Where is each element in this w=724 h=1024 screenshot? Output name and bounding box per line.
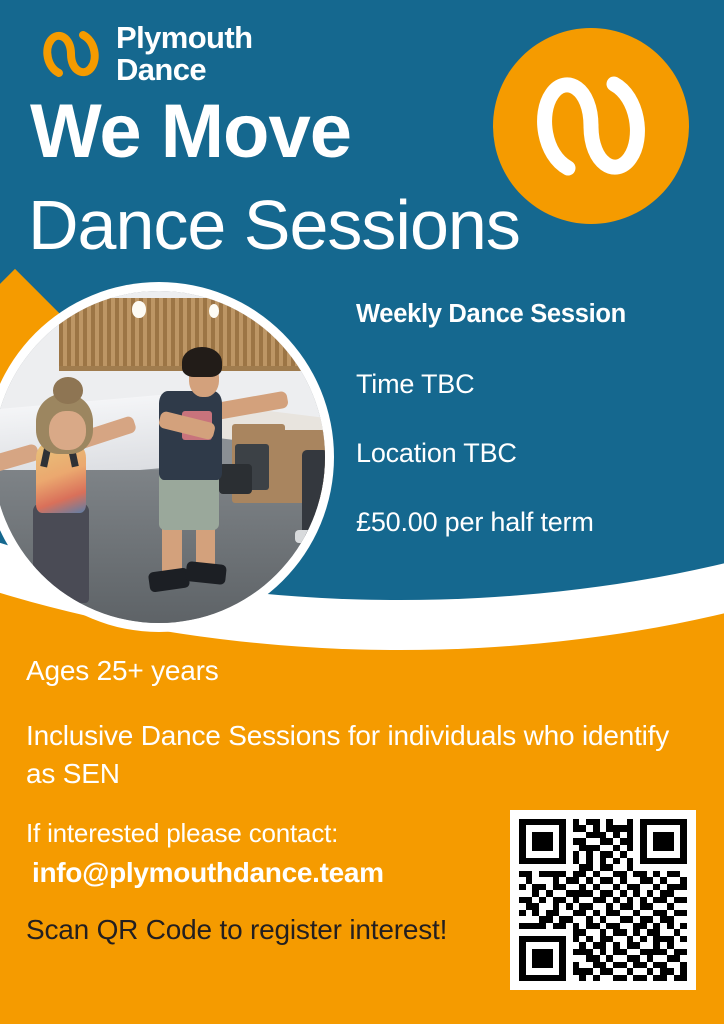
age-requirement: Ages 25+ years: [26, 655, 702, 687]
headline-secondary: Dance Sessions: [28, 190, 520, 260]
plymouth-dance-badge-icon: [528, 57, 654, 195]
brand-logo: Plymouth Dance: [40, 22, 252, 86]
headline-primary: We Move: [30, 94, 351, 170]
session-time: Time TBC: [356, 369, 706, 400]
session-info-heading: Weekly Dance Session: [356, 300, 706, 329]
brand-badge: [493, 28, 689, 224]
brand-logo-line1: Plymouth: [116, 22, 252, 54]
brand-logo-wordmark: Plymouth Dance: [116, 22, 252, 86]
poster: Plymouth Dance We Move Dance Sessions: [0, 0, 724, 1024]
brand-logo-line2: Dance: [116, 54, 252, 86]
qr-code[interactable]: [510, 810, 696, 990]
session-location: Location TBC: [356, 438, 706, 469]
scan-prompt: Scan QR Code to register interest!: [26, 911, 456, 950]
session-price: £50.00 per half term: [356, 507, 706, 538]
inclusivity-statement: Inclusive Dance Sessions for individuals…: [26, 717, 686, 792]
qr-code-grid: [519, 819, 687, 981]
dancers-photo-image: [0, 291, 325, 623]
session-info: Weekly Dance Session Time TBC Location T…: [356, 300, 706, 538]
dancers-photo: [0, 282, 334, 632]
plymouth-dance-mark-icon: [40, 23, 102, 85]
